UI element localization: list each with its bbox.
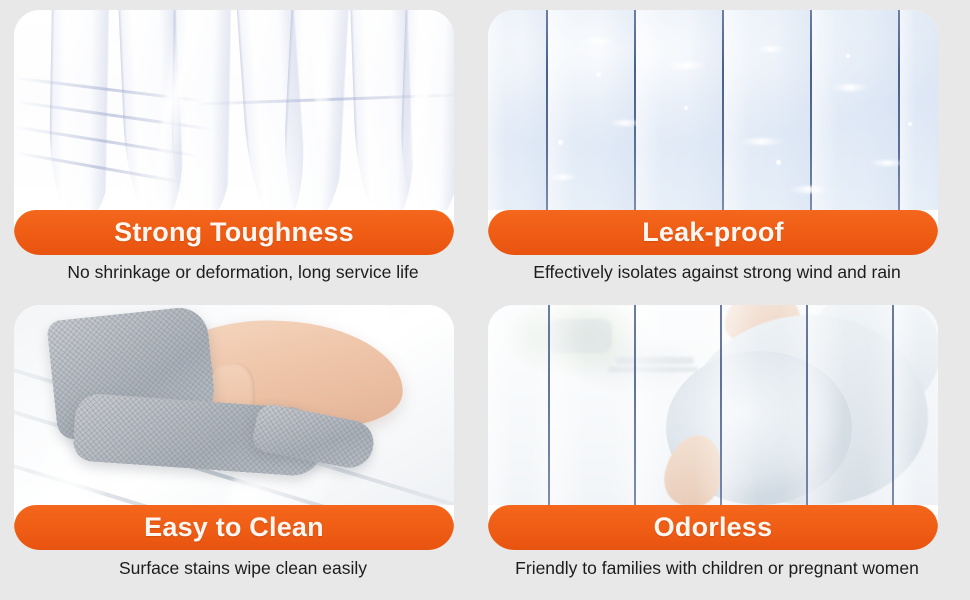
feature-card-leak-proof: Leak-proof Effectively isolates against … — [482, 4, 952, 294]
feature-banner-label: Strong Toughness — [114, 217, 354, 248]
pvc-curtain-illustration — [14, 10, 454, 210]
feature-image-odorless — [488, 305, 938, 505]
feature-banner-easy-to-clean: Easy to Clean — [14, 505, 454, 550]
feature-card-body: Easy to Clean — [14, 305, 454, 550]
feature-grid: Strong Toughness No shrinkage or deforma… — [0, 0, 970, 600]
feature-image-leak-proof — [488, 10, 938, 210]
feature-banner-label: Leak-proof — [642, 217, 784, 248]
feature-image-strong-toughness — [14, 10, 454, 210]
feature-card-easy-to-clean: Easy to Clean Surface stains wipe clean … — [8, 299, 478, 589]
pregnant-woman-illustration — [488, 305, 938, 505]
feature-card-body: Odorless — [488, 305, 938, 550]
feature-caption-odorless: Friendly to families with children or pr… — [482, 558, 952, 579]
feature-banner-leak-proof: Leak-proof — [488, 210, 938, 255]
feature-card-body: Strong Toughness — [14, 10, 454, 255]
feature-image-easy-to-clean — [14, 305, 454, 505]
wet-curtain-illustration — [488, 10, 938, 210]
feature-caption-easy-to-clean: Surface stains wipe clean easily — [8, 558, 478, 579]
feature-card-odorless: Odorless Friendly to families with child… — [482, 299, 952, 589]
feature-caption-leak-proof: Effectively isolates against strong wind… — [482, 262, 952, 283]
feature-card-strong-toughness: Strong Toughness No shrinkage or deforma… — [8, 4, 478, 294]
feature-banner-label: Odorless — [654, 512, 773, 543]
wiping-illustration — [14, 305, 454, 505]
feature-card-body: Leak-proof — [488, 10, 938, 255]
feature-banner-strong-toughness: Strong Toughness — [14, 210, 454, 255]
feature-caption-strong-toughness: No shrinkage or deformation, long servic… — [8, 262, 478, 283]
feature-banner-label: Easy to Clean — [144, 512, 324, 543]
feature-banner-odorless: Odorless — [488, 505, 938, 550]
